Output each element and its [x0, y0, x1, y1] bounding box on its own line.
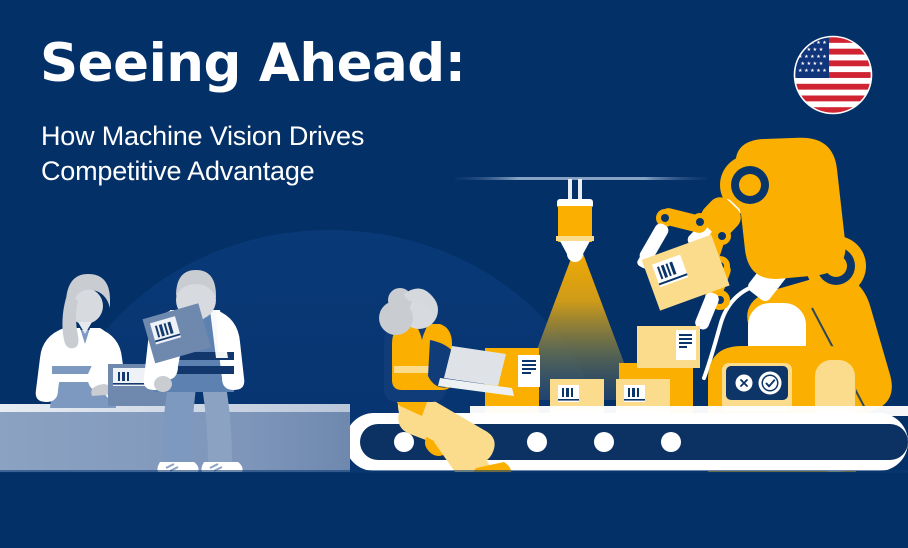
parcel-top-right: [637, 326, 700, 368]
machine-screen: [722, 363, 792, 411]
circle-x-icon: [736, 375, 753, 392]
usa-flag-badge: ★ ★ ★ ★ ★ ★ ★ ★ ★ ★ ★ ★ ★ ★ ★ ★ ★ ★ ★ ★ …: [794, 36, 872, 114]
circle-check-icon: [759, 372, 782, 395]
svg-text:★ ★ ★ ★ ★: ★ ★ ★ ★ ★: [798, 68, 827, 74]
hero-banner: ★ ★ ★ ★ ★ ★ ★ ★ ★ ★ ★ ★ ★ ★ ★ ★ ★ ★ ★ ★ …: [0, 0, 908, 548]
factory-illustration: ★ ★ ★ ★ ★ ★ ★ ★ ★ ★ ★ ★ ★ ★ ★ ★ ★ ★ ★ ★ …: [0, 0, 908, 548]
floor-band: [0, 470, 908, 548]
svg-text:★ ★ ★ ★ ★: ★ ★ ★ ★ ★: [798, 54, 827, 60]
svg-text:★ ★ ★ ★: ★ ★ ★ ★: [801, 61, 824, 67]
